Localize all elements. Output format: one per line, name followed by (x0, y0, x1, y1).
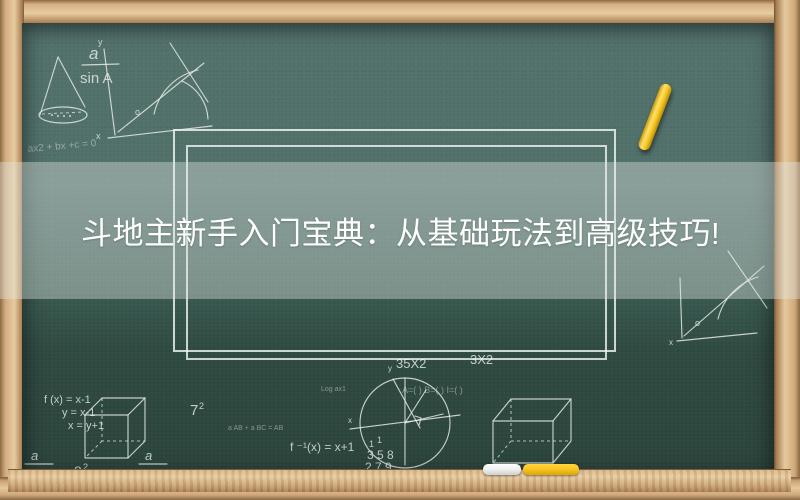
banner-title: 斗地主新手入门宝典：从基础玩法到高级技巧! (0, 162, 800, 299)
white-chalk-stick (483, 464, 521, 475)
ledge-wood-grain (8, 470, 791, 492)
frame-top-bevel (0, 0, 800, 24)
yellow-chalk-stick (523, 464, 579, 475)
banner-image: a sin A ax2 + bx +c = 0 y x o (0, 0, 800, 500)
chalk-ledge (8, 469, 791, 492)
